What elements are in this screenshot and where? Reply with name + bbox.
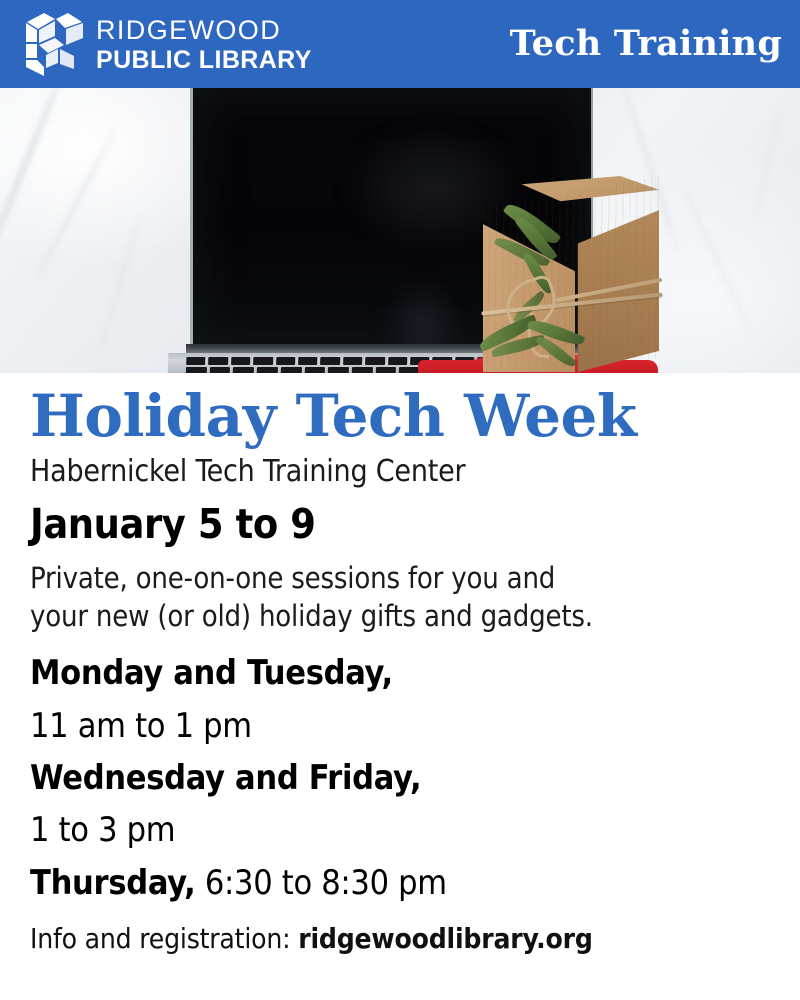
library-website-link[interactable]: ridgewoodlibrary.org	[298, 922, 592, 955]
schedule-list: Monday and Tuesday, 11 am to 1 pm Wednes…	[30, 647, 770, 909]
wordmark-bottom-text: PUBLIC LIBRARY	[96, 46, 312, 74]
keyboard-key	[186, 357, 206, 365]
description-line: Private, one-on-one sessions for you and	[30, 559, 730, 597]
poster: RIDGEWOOD PUBLIC LIBRARY Tech Training	[0, 0, 800, 1000]
schedule-row: Thursday, 6:30 to 8:30 pm	[30, 857, 770, 909]
event-dates: January 5 to 9	[30, 502, 770, 547]
keyboard-key	[365, 357, 385, 365]
keyboard-key	[231, 357, 251, 365]
schedule-row: Monday and Tuesday,	[30, 647, 770, 699]
keyboard-key	[208, 357, 228, 365]
header-bar: RIDGEWOOD PUBLIC LIBRARY Tech Training	[0, 0, 800, 88]
footer-prefix: Info and registration:	[30, 922, 298, 955]
schedule-times: 1 to 3 pm	[30, 810, 175, 850]
description-line: your new (or old) holiday gifts and gadg…	[30, 597, 730, 635]
keyboard-key	[388, 357, 408, 365]
venue-subtitle: Habernickel Tech Training Center	[30, 454, 770, 491]
registration-footer: Info and registration: ridgewoodlibrary.…	[30, 922, 770, 956]
header-title: Tech Training	[510, 23, 782, 66]
schedule-row: 11 am to 1 pm	[30, 700, 770, 752]
keyboard-key	[276, 357, 296, 365]
main-content: Holiday Tech Week Habernickel Tech Train…	[0, 373, 800, 956]
brand-lockup[interactable]: RIDGEWOOD PUBLIC LIBRARY	[22, 11, 312, 77]
event-description: Private, one-on-one sessions for you and…	[30, 559, 730, 636]
schedule-days: Thursday,	[30, 863, 195, 903]
schedule-row: 1 to 3 pm	[30, 804, 770, 856]
hero-photo	[0, 88, 800, 373]
gift-box	[483, 176, 659, 373]
keyboard-key	[253, 357, 273, 365]
keyboard-key	[320, 357, 340, 365]
schedule-days: Monday and Tuesday,	[30, 653, 393, 693]
wordmark-top-text: RIDGEWOOD	[96, 16, 312, 44]
keyboard-key	[343, 357, 363, 365]
schedule-times: 11 am to 1 pm	[30, 706, 252, 746]
schedule-row: Wednesday and Friday,	[30, 752, 770, 804]
schedule-days: Wednesday and Friday,	[30, 758, 421, 798]
schedule-times: 6:30 to 8:30 pm	[195, 863, 446, 903]
ridgewood-r-logo-icon	[22, 11, 84, 77]
keyboard-key	[298, 357, 318, 365]
wordmark: RIDGEWOOD PUBLIC LIBRARY	[96, 14, 312, 74]
page-title: Holiday Tech Week	[30, 387, 770, 446]
